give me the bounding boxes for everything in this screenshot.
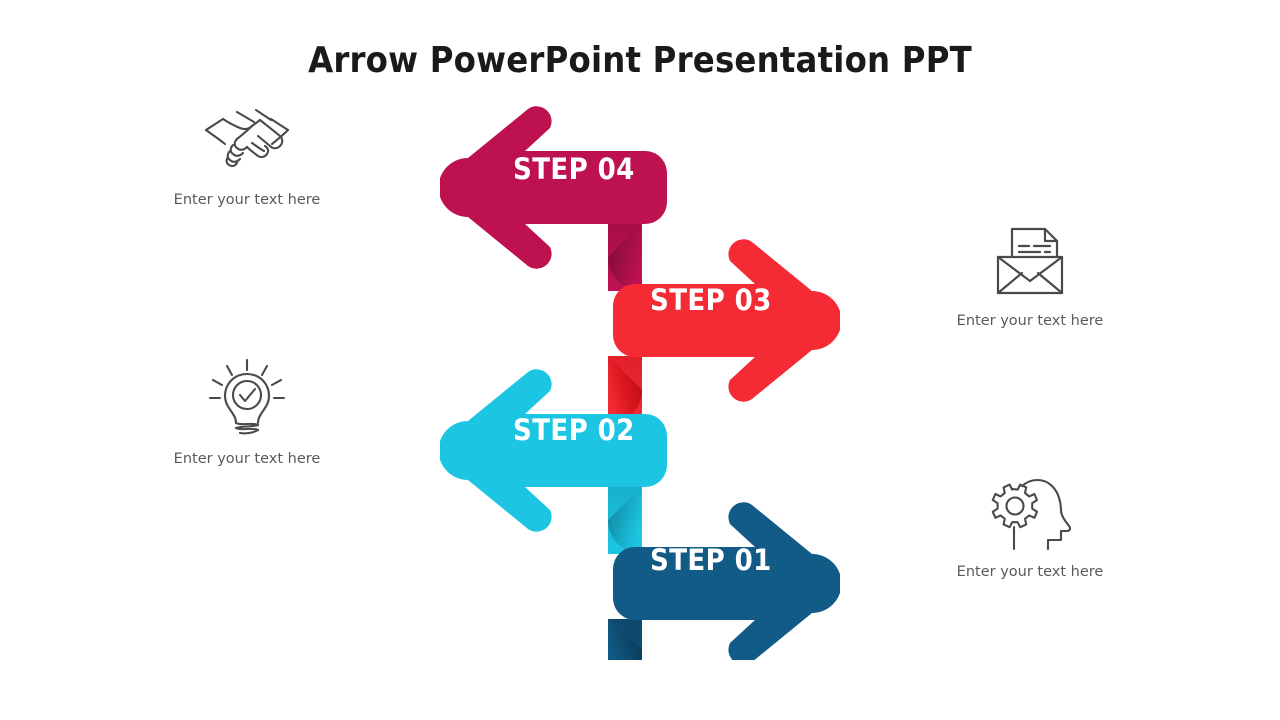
lightbulb-check-icon xyxy=(127,355,367,441)
page-title: Arrow PowerPoint Presentation PPT xyxy=(0,40,1280,81)
callout-caption: Enter your text here xyxy=(910,313,1150,329)
handshake-icon xyxy=(127,96,367,182)
arrow-body-step-01 xyxy=(613,502,840,660)
head-gear-icon xyxy=(910,468,1150,554)
callout-lightbulb: Enter your text here xyxy=(127,355,367,467)
arrow-step-04 xyxy=(440,106,672,291)
slide-canvas: Arrow PowerPoint Presentation PPT xyxy=(0,0,1280,720)
arrow-step-01 xyxy=(608,502,840,660)
callout-caption: Enter your text here xyxy=(127,451,367,467)
callout-head-gear: Enter your text here xyxy=(910,468,1150,580)
callout-caption: Enter your text here xyxy=(127,192,367,208)
arrow-step-03 xyxy=(608,239,840,424)
arrow-body-step-03 xyxy=(613,239,840,401)
callout-envelope: Enter your text here xyxy=(910,217,1150,329)
callout-caption: Enter your text here xyxy=(910,564,1150,580)
envelope-document-icon xyxy=(910,217,1150,303)
arrow-process-diagram: STEP 04 STEP 03 STEP 02 STEP 01 xyxy=(440,95,840,660)
callout-handshake: Enter your text here xyxy=(127,96,367,208)
